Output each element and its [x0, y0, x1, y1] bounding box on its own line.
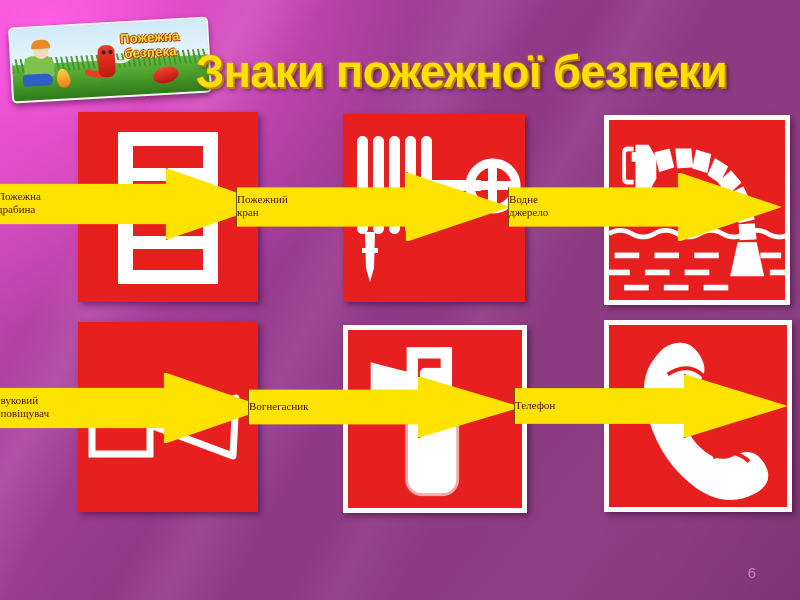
- fire-safety-logo-banner: Пожежна безпека: [8, 16, 212, 103]
- page-number: 6: [748, 565, 756, 582]
- arrow-text: Пожежна драбина: [0, 191, 1, 217]
- logo-boy-cap: [31, 39, 50, 49]
- slide-canvas: Пожежна безпека Знаки пожежної безпеки П…: [0, 0, 800, 600]
- logo-boy-legs: [23, 73, 54, 87]
- logo-text: Пожежна безпека: [94, 27, 206, 63]
- page-title: Знаки пожежної безпеки: [196, 40, 796, 106]
